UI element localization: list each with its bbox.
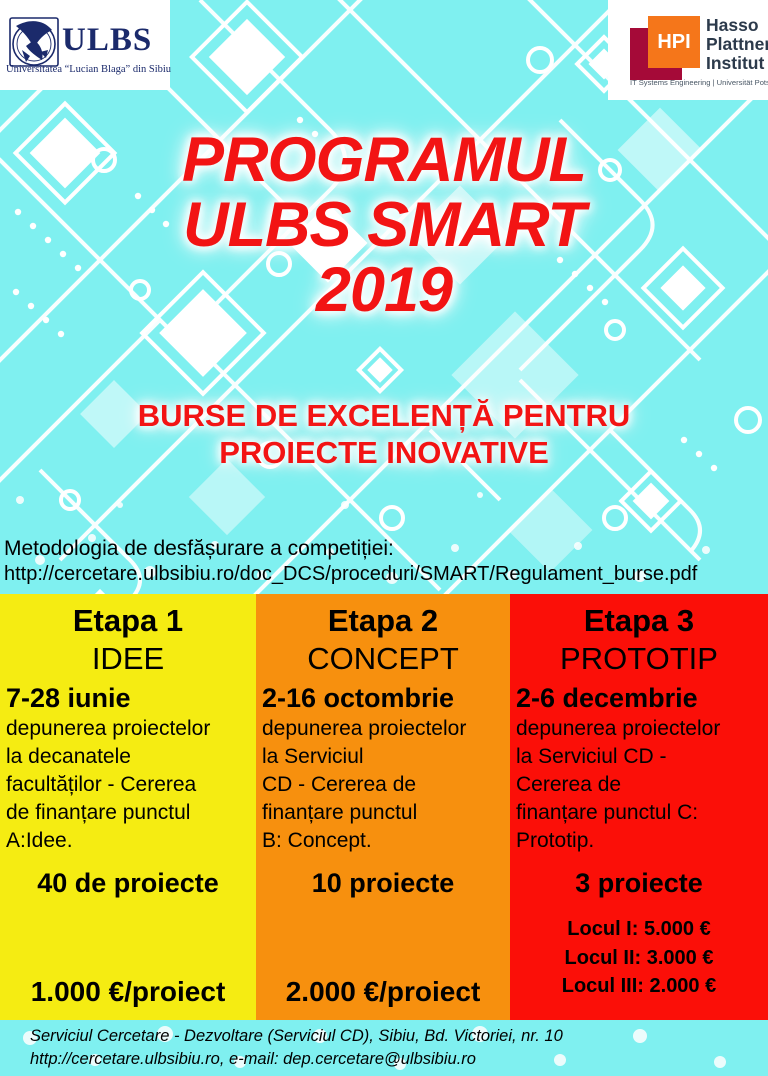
stage-2-description: depunerea proiectelor la Serviciul CD - …	[262, 715, 504, 855]
stage-2-amount: 2.000 €/proiect	[256, 976, 510, 1008]
footer-address: Serviciul Cercetare - Dezvoltare (Servic…	[30, 1027, 563, 1046]
stage-1-amount: 1.000 €/proiect	[0, 976, 256, 1008]
methodology-block: Metodologia de desfășurare a competiției…	[4, 536, 764, 586]
stages-row: Etapa 1 IDEE 7-28 iunie depunerea proiec…	[0, 594, 768, 1020]
stage-3-prize-list: Locul I: 5.000 € Locul II: 3.000 € Locul…	[516, 915, 762, 1000]
hpi-mark-label: HPI	[648, 16, 700, 68]
stage-1-project-count: 40 de proiecte	[6, 868, 250, 899]
title-line-1: PROGRAMUL	[0, 128, 768, 193]
subtitle-line-2: PROIECTE INOVATIVE	[0, 435, 768, 472]
hpi-name-label: Hasso Plattner Institut	[706, 16, 768, 73]
stage-2-project-count: 10 proiecte	[262, 868, 504, 899]
ulbs-logo: ULBS Universitatea “Lucian Blaga” din Si…	[0, 0, 170, 90]
poster-title: PROGRAMUL ULBS SMART 2019	[0, 128, 768, 323]
title-line-2: ULBS SMART	[0, 193, 768, 258]
hpi-logo: HPI Hasso Plattner Institut IT Systems E…	[608, 0, 768, 100]
subtitle-line-1: BURSE DE EXCELENȚĂ PENTRU	[0, 398, 768, 435]
stage-2-heading: Etapa 2	[262, 602, 504, 640]
stage-3-subheading: PROTOTIP	[516, 640, 762, 677]
stage-column-2: Etapa 2 CONCEPT 2-16 octombrie depunerea…	[256, 594, 510, 1020]
title-line-3: 2019	[0, 258, 768, 323]
prize-item: Locul II: 3.000 €	[516, 944, 762, 972]
ulbs-subtitle: Universitatea “Lucian Blaga” din Sibiu	[6, 64, 166, 75]
stage-3-project-count: 3 proiecte	[516, 868, 762, 899]
prize-item: Locul III: 2.000 €	[516, 972, 762, 1000]
stage-column-3: Etapa 3 PROTOTIP 2-6 decembrie depunerea…	[510, 594, 768, 1020]
stage-1-heading: Etapa 1	[6, 602, 250, 640]
footer-contact[interactable]: http://cercetare.ulbsibiu.ro, e-mail: de…	[30, 1050, 476, 1069]
stage-3-dates: 2-6 decembrie	[516, 683, 762, 715]
stage-2-dates: 2-16 octombrie	[262, 683, 504, 715]
methodology-url-link[interactable]: http://cercetare.ulbsibiu.ro/doc_DCS/pro…	[4, 562, 764, 586]
ulbs-wordmark: ULBS	[62, 24, 152, 57]
poster-footer: Serviciul Cercetare - Dezvoltare (Servic…	[0, 1020, 768, 1076]
stage-3-heading: Etapa 3	[516, 602, 762, 640]
stage-3-description: depunerea proiectelor la Serviciul CD - …	[516, 715, 762, 855]
hpi-tagline-label: IT Systems Engineering | Universität Pot…	[630, 78, 768, 87]
stage-1-dates: 7-28 iunie	[6, 683, 250, 715]
stage-1-subheading: IDEE	[6, 640, 250, 677]
stage-column-1: Etapa 1 IDEE 7-28 iunie depunerea proiec…	[0, 594, 256, 1020]
poster-subtitle: BURSE DE EXCELENȚĂ PENTRU PROIECTE INOVA…	[0, 398, 768, 471]
stage-2-subheading: CONCEPT	[262, 640, 504, 677]
poster-canvas: ULBS Universitatea “Lucian Blaga” din Si…	[0, 0, 768, 1076]
methodology-label: Metodologia de desfășurare a competiției…	[4, 536, 764, 562]
stage-1-description: depunerea proiectelor la decanatele facu…	[6, 715, 250, 855]
prize-item: Locul I: 5.000 €	[516, 915, 762, 943]
